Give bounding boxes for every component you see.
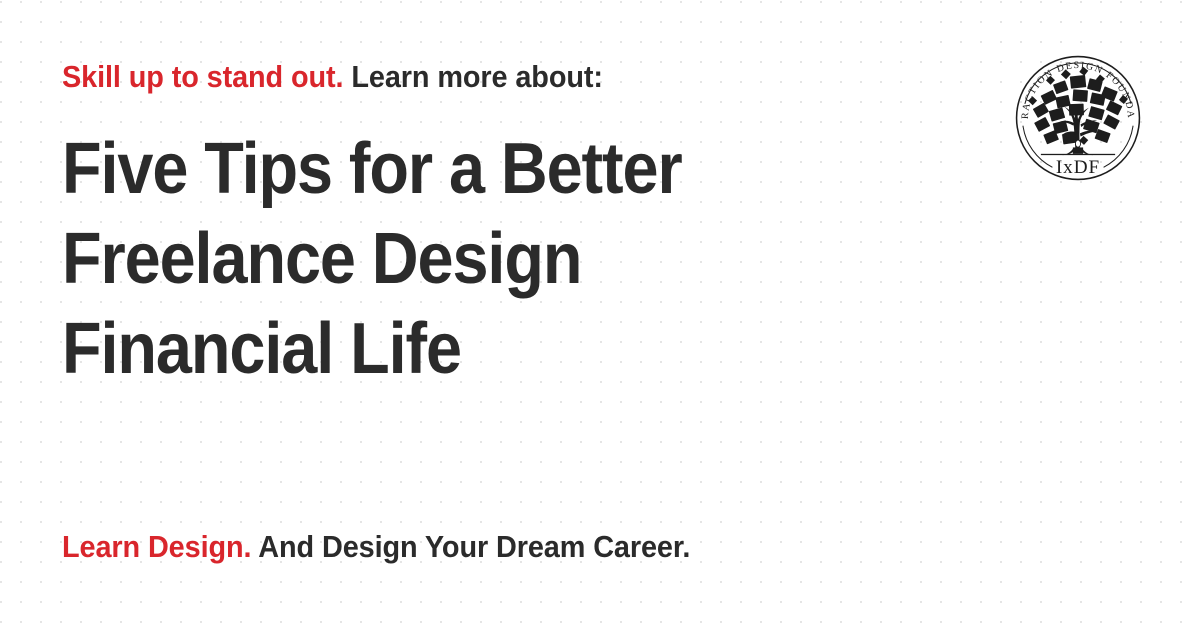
- text-content: Skill up to stand out. Learn more about:…: [62, 0, 1012, 630]
- tagline-rest-text: And Design Your Dream Career.: [251, 529, 690, 564]
- headline-line-1: Five Tips for a Better: [62, 124, 872, 214]
- logo-divider: [1041, 154, 1115, 155]
- page-title: Five Tips for a Better Freelance Design …: [62, 124, 872, 394]
- eyebrow-line: Skill up to stand out. Learn more about:: [62, 58, 603, 96]
- promo-card: Skill up to stand out. Learn more about:…: [0, 0, 1200, 630]
- eyebrow-accent-text: Skill up to stand out.: [62, 59, 343, 94]
- tagline-line: Learn Design. And Design Your Dream Care…: [62, 528, 690, 566]
- headline-line-3: Financial Life: [62, 304, 872, 394]
- tagline-accent-text: Learn Design.: [62, 529, 251, 564]
- ixdf-logo: INTERACTION DESIGN FOUNDATION: [1014, 54, 1142, 182]
- logo-monogram: IxDF: [1056, 157, 1100, 178]
- eyebrow-rest-text: Learn more about:: [343, 59, 602, 94]
- headline-line-2: Freelance Design: [62, 214, 872, 304]
